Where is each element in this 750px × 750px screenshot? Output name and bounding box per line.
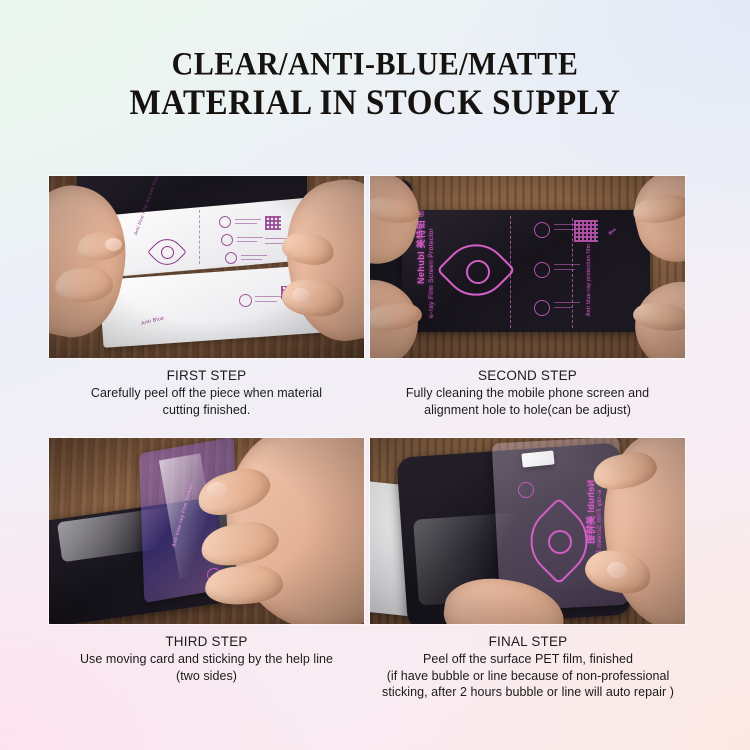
film-instruction-text-line (554, 264, 580, 265)
eye-logo-pupil (466, 260, 490, 284)
step-title-second: SECOND STEP (370, 367, 685, 385)
step-title-final: FINAL STEP (358, 633, 698, 651)
step-title-third: THIRD STEP (49, 633, 364, 651)
step-photo-third: Anti blue-ray Film Screen (49, 438, 364, 624)
step-title-first: FIRST STEP (49, 367, 364, 385)
film-icon-no-water (534, 222, 550, 238)
step-caption-third: THIRD STEP Use moving card and sticking … (49, 633, 364, 684)
film-icon-lower (239, 294, 252, 307)
film-alignment-line (510, 216, 511, 328)
page-title: CLEAR/ANTI-BLUE/MATTE MATERIAL IN STOCK … (0, 48, 750, 122)
film-instruction-text-line (554, 302, 580, 303)
step-caption-second: SECOND STEP Fully cleaning the mobile ph… (370, 367, 685, 418)
film-instruction-text-line (554, 229, 574, 230)
step-desc-final-line-1: Peel off the surface PET film, finished (358, 651, 698, 668)
film-instruction-text-line (255, 296, 283, 297)
right-fingernail (292, 288, 310, 302)
title-line-2: MATERIAL IN STOCK SUPPLY (0, 83, 750, 123)
eye-logo-pupil (161, 246, 174, 259)
film-instruction-text-line (235, 219, 261, 220)
steps-grid: Anti blue Film Screen Protector (49, 176, 685, 701)
film-icon-no-bend (225, 252, 237, 264)
step-desc-third-line-1: Use moving card and sticking by the help… (49, 651, 364, 668)
step-card-third: Anti blue-ray Film Screen THIRD STEP (49, 438, 364, 684)
film-instruction-text-line (554, 307, 572, 308)
title-line-1: CLEAR/ANTI-BLUE/MATTE (0, 47, 750, 83)
step-desc-first-line-1: Carefully peel off the piece when materi… (49, 385, 364, 402)
film-qr-code (574, 220, 598, 242)
film-side-note: Anti blue-ray protection film (586, 244, 592, 316)
infographic-page: CLEAR/ANTI-BLUE/MATTE MATERIAL IN STOCK … (0, 0, 750, 750)
film-instruction-text-line (237, 237, 263, 238)
step-photo-final: Nehubl 美特铂 e-ray Film Screen Protector (370, 438, 685, 624)
step-desc-final-line-2: (if have bubble or line because of non-p… (358, 668, 698, 685)
film-instruction-text-line (241, 255, 267, 256)
step-photo-first: Anti blue Film Screen Protector (49, 176, 364, 358)
film-icon-no-sharp (534, 262, 550, 278)
step-card-second: Nehubl 美特铂 ® e-ray Film Screen Protector (370, 176, 685, 418)
film-icon-no-clean (534, 300, 550, 316)
step-caption-first: FIRST STEP Carefully peel off the piece … (49, 367, 364, 418)
step-desc-second-line-1: Fully cleaning the mobile phone screen a… (370, 385, 685, 402)
step-card-final: Nehubl 美特铂 e-ray Film Screen Protector (370, 438, 685, 701)
steps-row-1: Anti blue Film Screen Protector (49, 176, 685, 418)
film-instruction-text-line (235, 223, 257, 224)
step-desc-second-line-2: alignment hole to hole(can be adjust) (370, 402, 685, 419)
film-cut-line (199, 210, 200, 264)
film-instruction-text-line (237, 241, 257, 242)
step-card-first: Anti blue Film Screen Protector (49, 176, 364, 418)
step-desc-final-line-3: sticking, after 2 hours bubble or line w… (358, 684, 698, 701)
step-desc-third-line-2: (two sides) (49, 668, 364, 685)
film-icon-no-dust (221, 234, 233, 246)
film-instruction-text-line (241, 259, 262, 260)
film-panel-divider (572, 218, 573, 328)
step-desc-first-line-2: cutting finished. (49, 402, 364, 419)
step-caption-final: FINAL STEP Peel off the surface PET film… (358, 633, 698, 701)
left-fingernail (105, 238, 122, 251)
film-icon-no-water (219, 216, 231, 228)
film-product-line: e-ray Film Screen Protector (428, 228, 435, 318)
film-instruction-text-line (255, 301, 277, 302)
film-qr-code (265, 216, 281, 230)
steps-row-2: Anti blue-ray Film Screen THIRD STEP (49, 438, 685, 701)
step-photo-second: Nehubl 美特铂 ® e-ray Film Screen Protector (370, 176, 685, 358)
